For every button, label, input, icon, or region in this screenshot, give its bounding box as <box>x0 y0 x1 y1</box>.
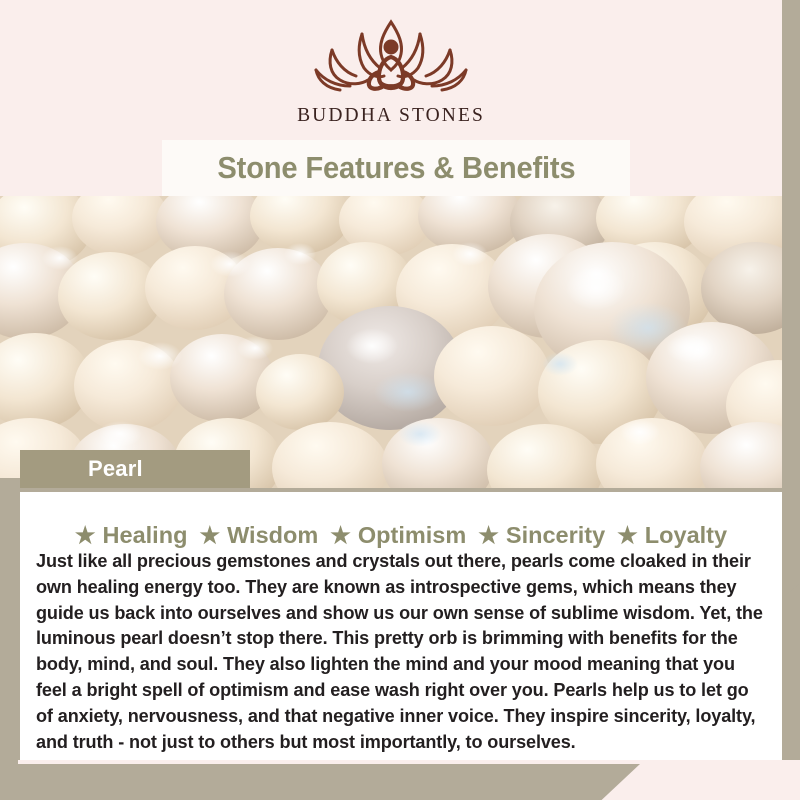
benefit-item-loyalty: ★ Loyalty <box>611 522 733 549</box>
hero-image-pearls <box>0 196 800 488</box>
benefit-label: Healing <box>103 522 188 549</box>
star-icon: ★ <box>75 524 96 547</box>
stone-name-label: Pearl <box>20 456 143 482</box>
star-icon: ★ <box>330 524 351 547</box>
benefit-item-sincerity: ★ Sincerity <box>472 522 611 549</box>
star-icon: ★ <box>617 524 638 547</box>
benefit-item-healing: ★ Healing <box>69 522 194 549</box>
infographic-canvas: BUDDHA STONES Stone Features & Benefits <box>0 0 800 800</box>
section-title-banner: Stone Features & Benefits <box>162 140 630 196</box>
benefit-label: Loyalty <box>645 522 727 549</box>
benefit-label: Sincerity <box>506 522 605 549</box>
bottom-tan-accent <box>0 764 640 800</box>
benefit-label: Optimism <box>358 522 466 549</box>
brand-name: BUDDHA STONES <box>297 105 485 127</box>
benefit-item-optimism: ★ Optimism <box>324 522 472 549</box>
star-icon: ★ <box>478 524 499 547</box>
lotus-meditation-figure-icon <box>306 14 476 104</box>
left-tan-accent <box>0 478 20 760</box>
benefits-row: ★ Healing ★ Wisdom ★ Optimism ★ Sincerit… <box>20 518 782 552</box>
star-icon: ★ <box>199 524 220 547</box>
brand-logo: BUDDHA STONES <box>0 14 782 142</box>
page-title: Stone Features & Benefits <box>217 150 575 186</box>
benefit-label: Wisdom <box>227 522 318 549</box>
stone-name-bar: Pearl <box>20 450 250 488</box>
benefit-item-wisdom: ★ Wisdom <box>193 522 324 549</box>
right-tan-accent <box>782 0 800 580</box>
description-text: Just like all precious gemstones and cry… <box>36 549 766 755</box>
pearl-pile-illustration <box>0 196 800 488</box>
